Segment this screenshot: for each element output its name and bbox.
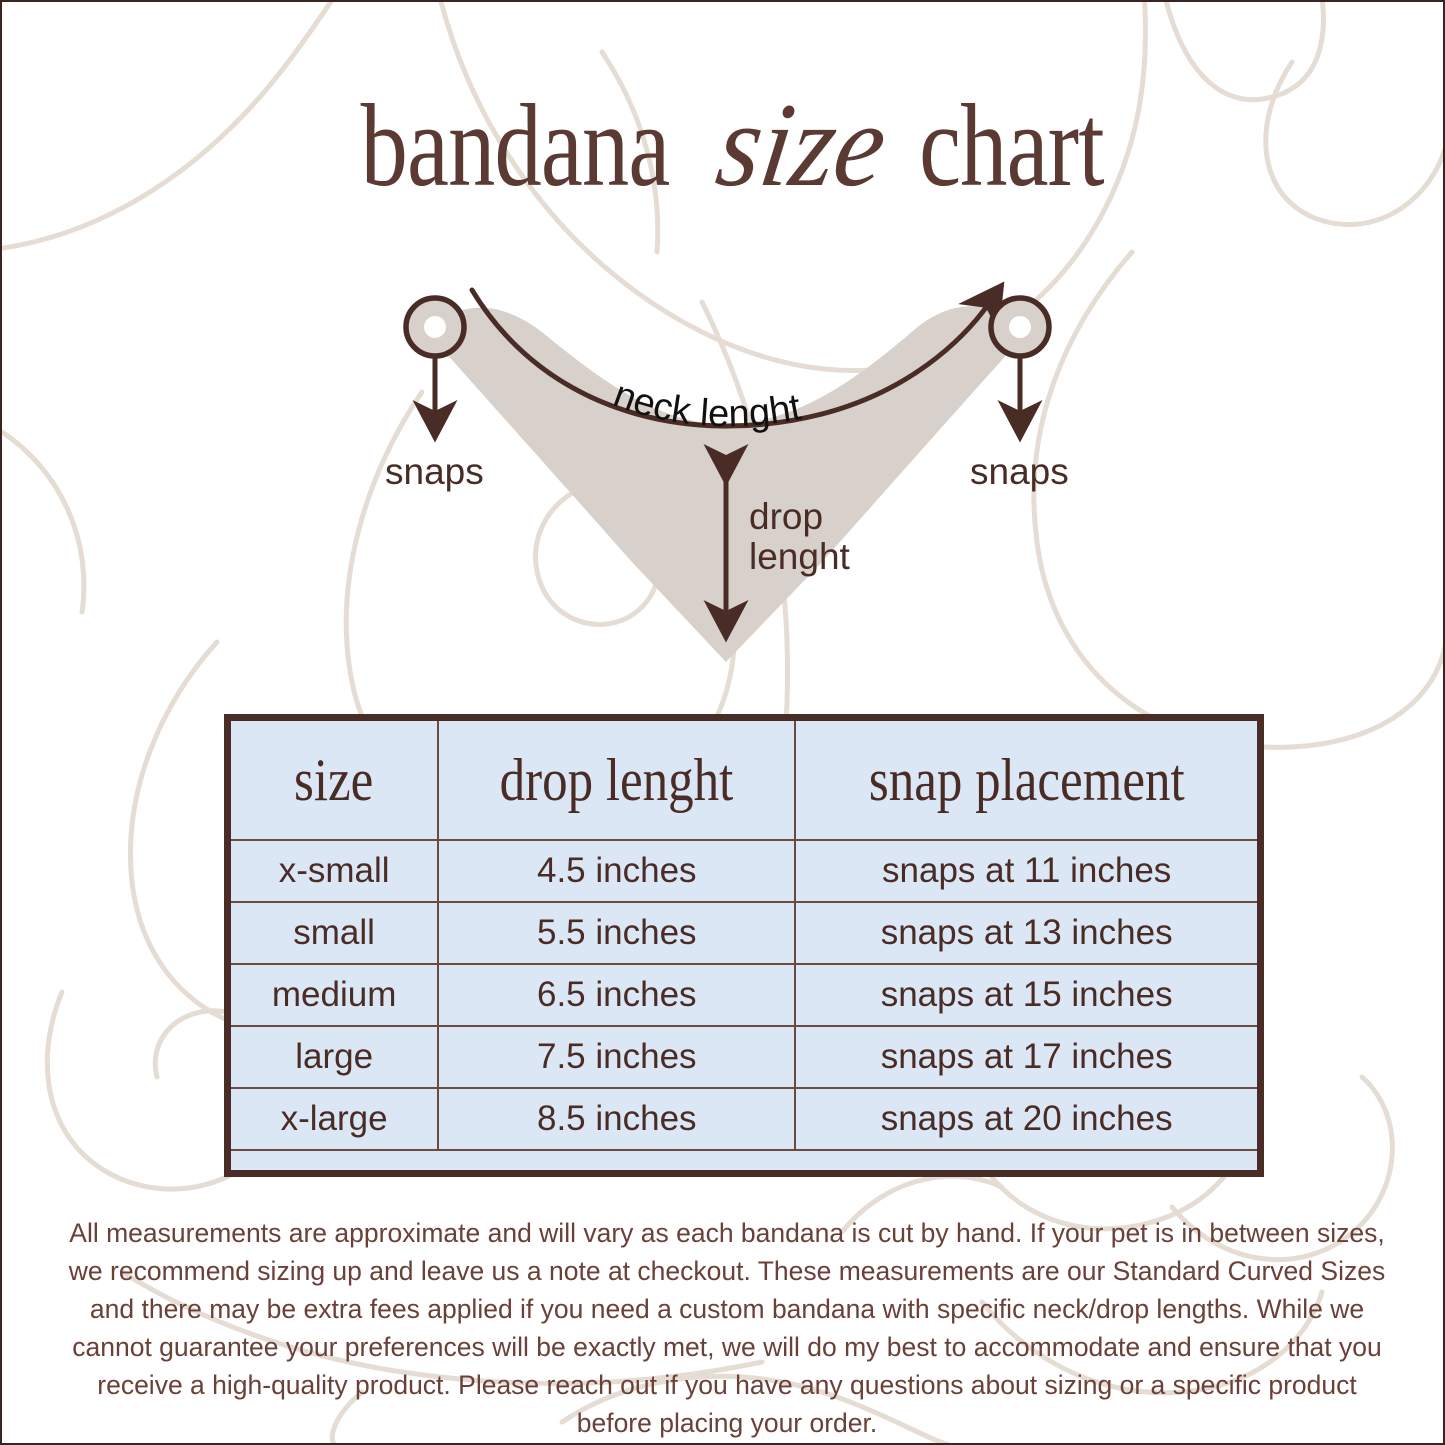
cell-drop: 6.5 inches: [438, 964, 795, 1026]
cell-snap: snaps at 15 inches: [795, 964, 1257, 1026]
cell-size: x-large: [231, 1088, 438, 1150]
snaps-right-label: snaps: [970, 452, 1069, 492]
cell-snap: snaps at 13 inches: [795, 902, 1257, 964]
drop-length-label-line2: lenght: [749, 537, 850, 577]
table-row: x-large 8.5 inches snaps at 20 inches: [231, 1088, 1257, 1150]
drop-length-label-line1: drop: [749, 497, 850, 537]
cell-drop: 5.5 inches: [438, 902, 795, 964]
cell-size: medium: [231, 964, 438, 1026]
cell-size: x-small: [231, 840, 438, 902]
footer-note: All measurements are approximate and wil…: [68, 1214, 1386, 1442]
spacer-cell: [795, 1150, 1257, 1212]
size-chart-page: bandanasizechart neck lenght: [0, 0, 1445, 1445]
table-row: small 5.5 inches snaps at 13 inches: [231, 902, 1257, 964]
column-header-snap-placement: snap placement: [795, 721, 1257, 840]
cell-drop: 8.5 inches: [438, 1088, 795, 1150]
snaps-left-label: snaps: [385, 452, 484, 492]
cell-snap: snaps at 17 inches: [795, 1026, 1257, 1088]
snap-left-icon: [406, 298, 464, 356]
table-row: x-small 4.5 inches snaps at 11 inches: [231, 840, 1257, 902]
cell-drop: 7.5 inches: [438, 1026, 795, 1088]
spacer-cell: [231, 1150, 438, 1212]
cell-size: large: [231, 1026, 438, 1088]
size-table: size drop lenght snap placement x-small …: [224, 714, 1264, 1177]
drop-length-label: drop lenght: [749, 497, 850, 577]
cell-size: small: [231, 902, 438, 964]
column-header-drop-lenght: drop lenght: [438, 721, 795, 840]
table-row: large 7.5 inches snaps at 17 inches: [231, 1026, 1257, 1088]
spacer-cell: [438, 1150, 795, 1212]
cell-snap: snaps at 11 inches: [795, 840, 1257, 902]
cell-snap: snaps at 20 inches: [795, 1088, 1257, 1150]
table-row: medium 6.5 inches snaps at 15 inches: [231, 964, 1257, 1026]
table-spacer-row: [231, 1150, 1257, 1212]
cell-drop: 4.5 inches: [438, 840, 795, 902]
column-header-size: size: [231, 721, 438, 840]
bandana-diagram: neck lenght: [2, 2, 1445, 702]
table-header-row: size drop lenght snap placement: [231, 721, 1257, 840]
snap-right-icon: [991, 298, 1049, 356]
